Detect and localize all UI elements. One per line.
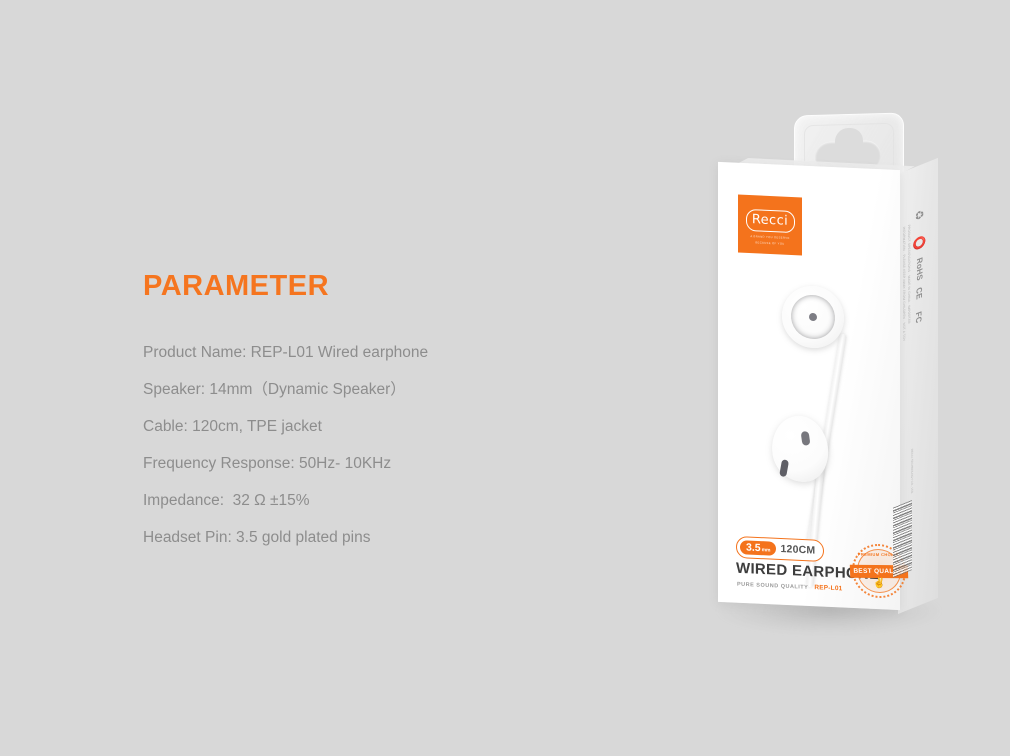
spec-line-cable: Cable: 120cm, TPE jacket	[143, 419, 613, 435]
parameter-panel: PARAMETER Product Name: REP-L01 Wired ea…	[143, 272, 613, 567]
green-dot-icon: ⭕	[913, 234, 926, 253]
logo-wordmark: Recci	[738, 212, 802, 230]
package-model-code: REP-L01	[814, 584, 842, 592]
recci-logo: Recci A BRAND YOU DESERVE BECAUSE OF YOU	[738, 195, 802, 256]
earbud-grille	[789, 294, 837, 341]
spec-line-impedance: Impedance: 32 Ω ±15%	[143, 493, 613, 509]
ce-icon: CE	[914, 286, 923, 301]
product-package-image: Recci A BRAND YOU DESERVE BECAUSE OF YOU…	[680, 96, 980, 656]
fcc-icon: FC	[914, 310, 923, 325]
jack-size-unit: mm	[762, 548, 771, 553]
jack-size-number: 3.5	[746, 542, 761, 553]
spec-line-frequency-response: Frequency Response: 50Hz- 10KHz	[143, 456, 613, 472]
recycle-icon: ♻	[913, 208, 926, 223]
size-badge: 3.5mm 120CM	[736, 536, 824, 562]
spec-line-speaker: Speaker: 14mm（Dynamic Speaker）	[143, 382, 613, 398]
earbud-sound-slot	[779, 459, 789, 477]
jack-size-value: 3.5mm	[740, 540, 776, 556]
cable-length-value: 120CM	[779, 543, 821, 557]
logo-tagline-line-1: A BRAND YOU DESERVE	[736, 234, 803, 240]
logo-tagline-line-2: BECAUSE OF YOU	[736, 240, 803, 246]
page-title: PARAMETER	[143, 272, 613, 301]
thumbs-up-icon: ✌	[852, 579, 906, 590]
spec-line-headset-pin: Headset Pin: 3.5 gold plated pins	[143, 530, 613, 546]
rohs-icon: RoHS	[914, 256, 923, 282]
barcode	[893, 500, 912, 578]
side-panel-company-text: RECCI TECHNOLOGY CO., LTD.	[909, 448, 914, 498]
spec-line-product-name: Product Name: REP-L01 Wired earphone	[143, 345, 613, 361]
earbud-vent-port	[801, 431, 811, 446]
earbud-grille-hub	[809, 313, 818, 321]
certification-marks: ♻ ⭕ RoHS CE FC	[906, 203, 932, 444]
